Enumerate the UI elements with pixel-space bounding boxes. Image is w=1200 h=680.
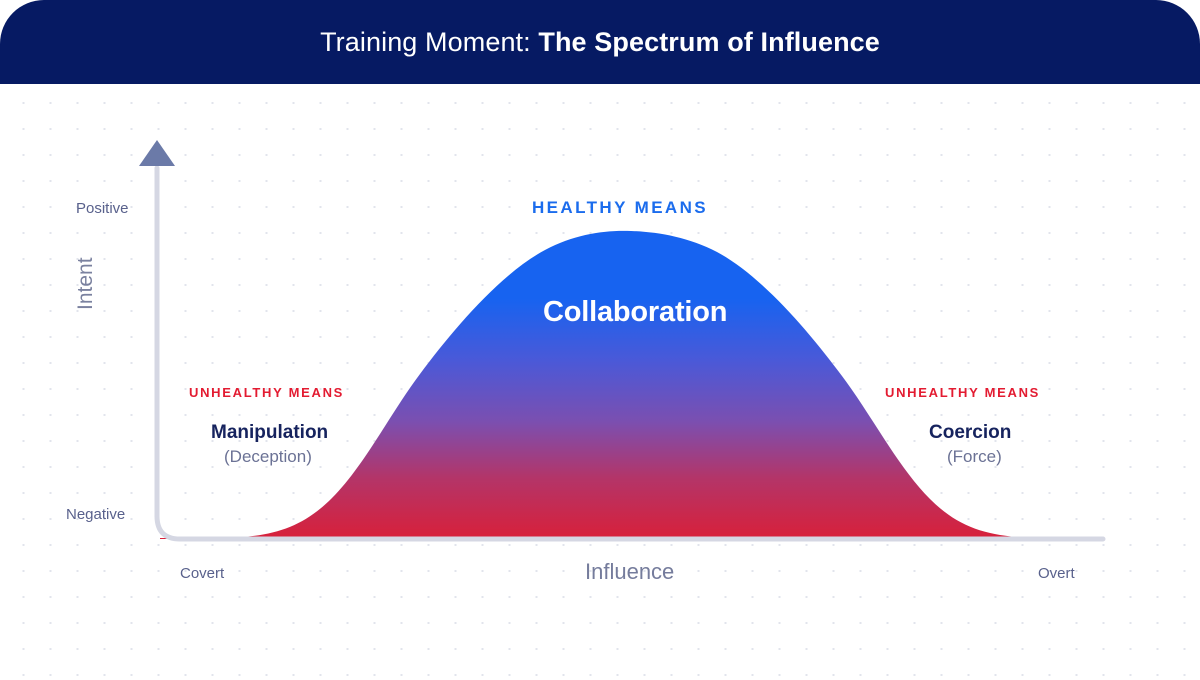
y-axis-title: Intent bbox=[74, 257, 98, 310]
spectrum-chart bbox=[0, 84, 1200, 680]
manipulation-subtitle: (Deception) bbox=[224, 447, 312, 467]
y-axis-label-positive: Positive bbox=[76, 200, 129, 217]
coercion-subtitle: (Force) bbox=[947, 447, 1002, 467]
collaboration-label: Collaboration bbox=[543, 296, 727, 329]
up-arrow-icon bbox=[139, 140, 175, 166]
slide-canvas: Training Moment: The Spectrum of Influen… bbox=[0, 0, 1200, 680]
unhealthy-means-kicker-left: UNHEALTHY MEANS bbox=[189, 385, 344, 400]
x-axis-label-overt: Overt bbox=[1038, 565, 1075, 582]
y-axis-label-negative: Negative bbox=[66, 506, 125, 523]
manipulation-label: Manipulation bbox=[211, 422, 328, 444]
x-axis-label-covert: Covert bbox=[180, 565, 224, 582]
page-title-regular: Training Moment: bbox=[320, 27, 531, 57]
page-title-bold: The Spectrum of Influence bbox=[538, 27, 880, 57]
x-axis-title: Influence bbox=[585, 559, 674, 585]
healthy-means-kicker: HEALTHY MEANS bbox=[532, 198, 708, 218]
unhealthy-means-kicker-right: UNHEALTHY MEANS bbox=[885, 385, 1040, 400]
header-banner: Training Moment: The Spectrum of Influen… bbox=[0, 0, 1200, 84]
page-title: Training Moment: The Spectrum of Influen… bbox=[320, 27, 880, 58]
coercion-label: Coercion bbox=[929, 422, 1011, 444]
